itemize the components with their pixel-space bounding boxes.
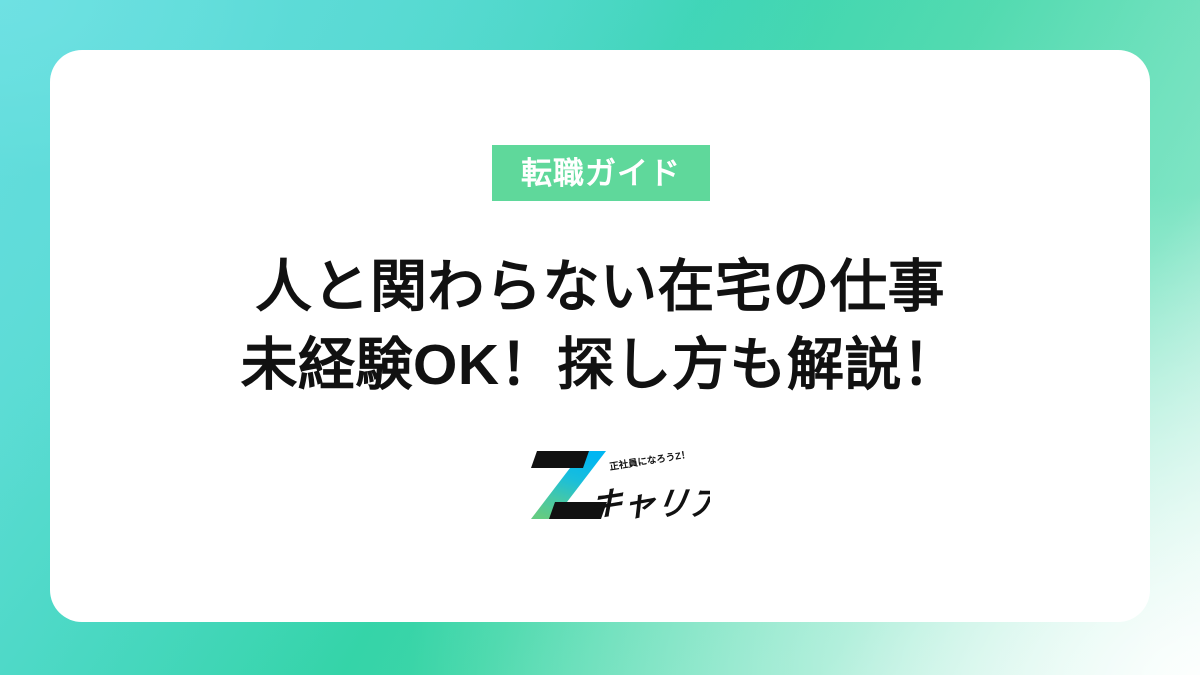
category-badge-label: 転職ガイド [521,158,681,189]
brand-logo: 正社員になろうZ！ キャリア [510,443,710,527]
logo-tagline: 正社員になろうZ！ [609,448,692,473]
logo-z-top-bar [531,451,589,468]
logo-wordmark: キャリア [587,486,710,523]
page-title: 人と関わらない在宅の仕事 未経験OK！探し方も解説！ [0,248,1200,404]
page-title-line-1: 人と関わらない在宅の仕事 [0,248,1200,326]
category-badge: 転職ガイド [492,145,710,201]
page-title-line-2: 未経験OK！探し方も解説！ [0,326,1200,404]
